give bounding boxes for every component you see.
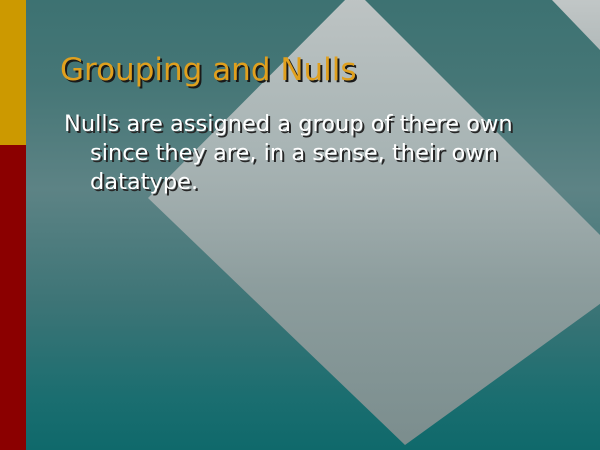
presentation-slide: Grouping and Nulls Nulls are assigned a … xyxy=(0,0,600,450)
slide-title: Grouping and Nulls xyxy=(60,52,357,88)
slide-body-bullet: Nulls are assigned a group of there own … xyxy=(64,110,534,197)
slide-body-list: Nulls are assigned a group of there own … xyxy=(64,110,534,197)
slide-text-layer: Grouping and Nulls Nulls are assigned a … xyxy=(0,0,600,450)
